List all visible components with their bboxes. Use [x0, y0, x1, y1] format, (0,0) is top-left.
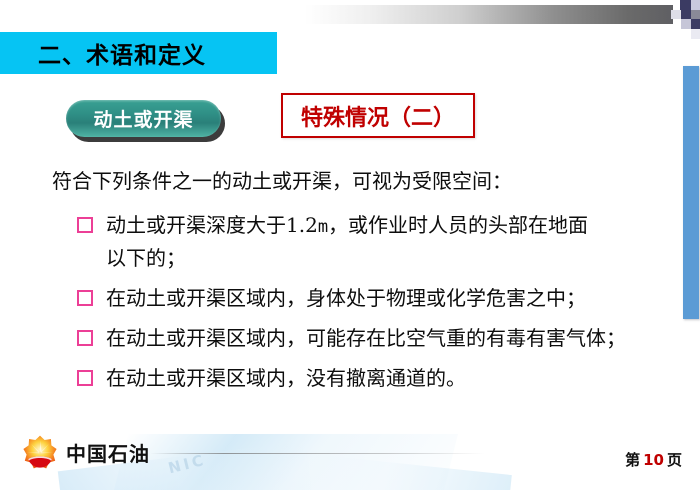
slide-canvas: 二、术语和定义 动土或开渠 特殊情况（二） 符合下列条件之一的动土或开渠，可视为… [0, 0, 700, 490]
list-item-text: 在动土或开渠区域内，身体处于物理或化学危害之中； [106, 283, 586, 314]
bullet-list: 动土或开渠深度大于1.2m，或作业时人员的头部在地面以下的； 在动土或开渠区域内… [0, 210, 700, 394]
page-prefix: 第 [625, 451, 640, 469]
page-suffix: 页 [667, 451, 682, 469]
bullet-1-text: 动土或开渠深度大于 [106, 213, 286, 237]
checker-square [691, 0, 700, 10]
square-bullet-icon [77, 370, 93, 386]
petrochina-sunburst-icon [22, 434, 58, 470]
list-item-text: 动土或开渠深度大于1.2m，或作业时人员的头部在地面以下的； [106, 210, 588, 274]
checker-square [681, 10, 691, 19]
checker-square [691, 19, 700, 29]
topic-pill-body: 动土或开渠 [66, 100, 221, 137]
brand-logo: 中国石油 [22, 434, 150, 470]
square-bullet-icon [77, 330, 93, 346]
bullet-1-text-after: ，或作业时人员的头部在地面 [328, 213, 588, 237]
page-title: 二、术语和定义 [38, 36, 206, 70]
square-bullet-icon [77, 217, 93, 233]
list-item: 在动土或开渠区域内，没有撤离通道的。 [77, 363, 700, 394]
list-item-text: 在动土或开渠区域内，没有撤离通道的。 [106, 363, 466, 394]
checker-square [691, 10, 700, 19]
bullet-1-unit: m [318, 217, 328, 237]
checker-square [681, 19, 691, 29]
list-item: 在动土或开渠区域内，可能存在比空气重的有毒有害气体； [77, 323, 700, 354]
brand-name: 中国石油 [66, 438, 150, 467]
body-content: 符合下列条件之一的动土或开渠，可视为受限空间： 动土或开渠深度大于1.2m，或作… [0, 166, 700, 403]
square-bullet-icon [77, 290, 93, 306]
top-gradient-bar [305, 5, 673, 24]
list-item-text: 在动土或开渠区域内，可能存在比空气重的有毒有害气体； [106, 323, 626, 354]
callout-box-label: 特殊情况（二） [301, 100, 455, 132]
list-item: 在动土或开渠区域内，身体处于物理或化学危害之中； [77, 283, 700, 314]
bullet-1-value: 1.2 [286, 213, 318, 237]
page-number: 10 [640, 451, 667, 469]
page-number-indicator: 第10页 [625, 449, 682, 470]
callout-box: 特殊情况（二） [281, 93, 475, 138]
topic-pill: 动土或开渠 [66, 100, 221, 137]
bullet-1-continuation: 以下的； [106, 243, 588, 274]
lead-paragraph: 符合下列条件之一的动土或开渠，可视为受限空间： [52, 166, 700, 196]
checker-square [691, 29, 700, 39]
topic-pill-label: 动土或开渠 [93, 105, 193, 132]
checker-square [680, 0, 691, 10]
list-item: 动土或开渠深度大于1.2m，或作业时人员的头部在地面以下的； [77, 210, 700, 274]
checkerboard-decoration [660, 0, 700, 30]
checker-square [671, 10, 681, 19]
section-title-banner: 二、术语和定义 [0, 32, 277, 74]
footer-divider [150, 453, 485, 454]
